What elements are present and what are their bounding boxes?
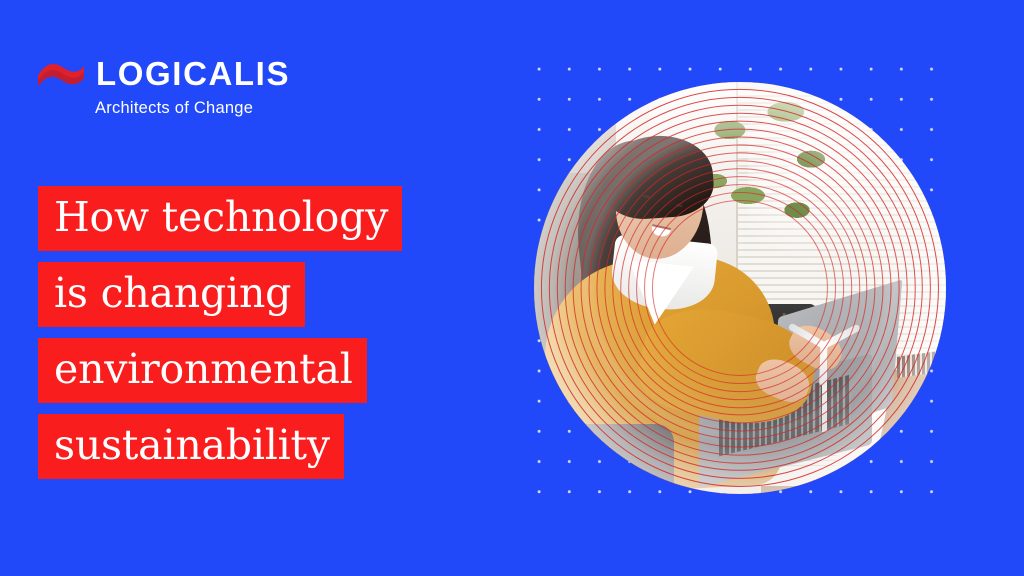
headline-line: sustainability — [38, 414, 478, 479]
headline-line: environmental — [38, 338, 478, 403]
photo-scene — [534, 82, 946, 494]
headline-line-text: is changing — [38, 262, 305, 327]
plant-leaves — [699, 90, 839, 271]
hero-photo — [534, 82, 946, 494]
logo-row: LOGICALIS — [37, 55, 309, 91]
headline-line: How technology — [38, 186, 478, 251]
logicalis-wave-mark-icon — [37, 58, 85, 88]
person-lower-body — [567, 424, 674, 494]
headline-line-text: How technology — [38, 186, 402, 251]
logo-wordmark: LOGICALIS — [96, 57, 290, 90]
page-title: How technology is changing environmental… — [38, 186, 478, 479]
headline-line-text: environmental — [38, 338, 367, 403]
headline-line-text: sustainability — [38, 414, 344, 479]
slide-canvas: LOGICALIS Architects of Change How techn… — [0, 0, 1024, 576]
logicalis-logo[interactable]: LOGICALIS Architects of Change — [37, 55, 309, 117]
logo-tagline: Architects of Change — [95, 100, 309, 117]
headline-line: is changing — [38, 262, 478, 327]
